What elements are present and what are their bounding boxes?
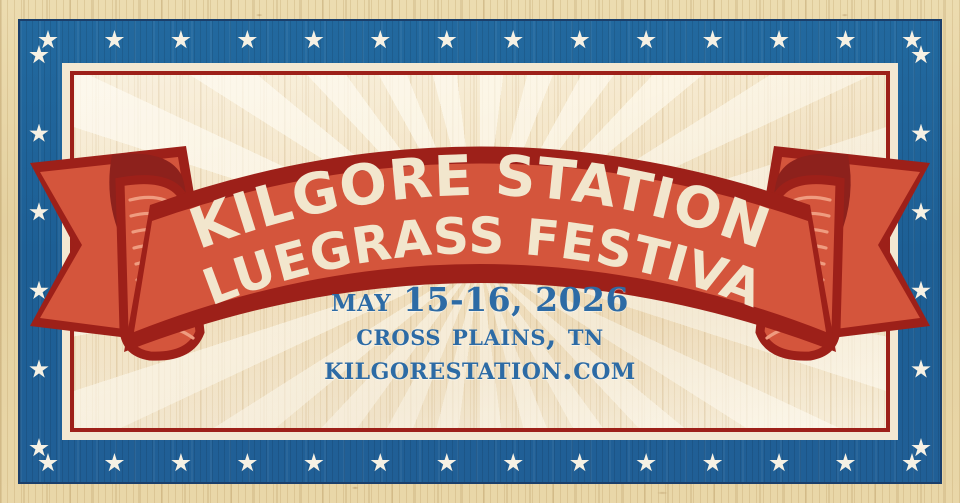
festival-poster: KILGORE STATION BLUEGRASS FESTIVAL May 1… [0, 0, 960, 503]
ribbon-svg: KILGORE STATION BLUEGRASS FESTIVAL [0, 0, 960, 503]
ribbon-banner: KILGORE STATION BLUEGRASS FESTIVAL [0, 0, 960, 503]
